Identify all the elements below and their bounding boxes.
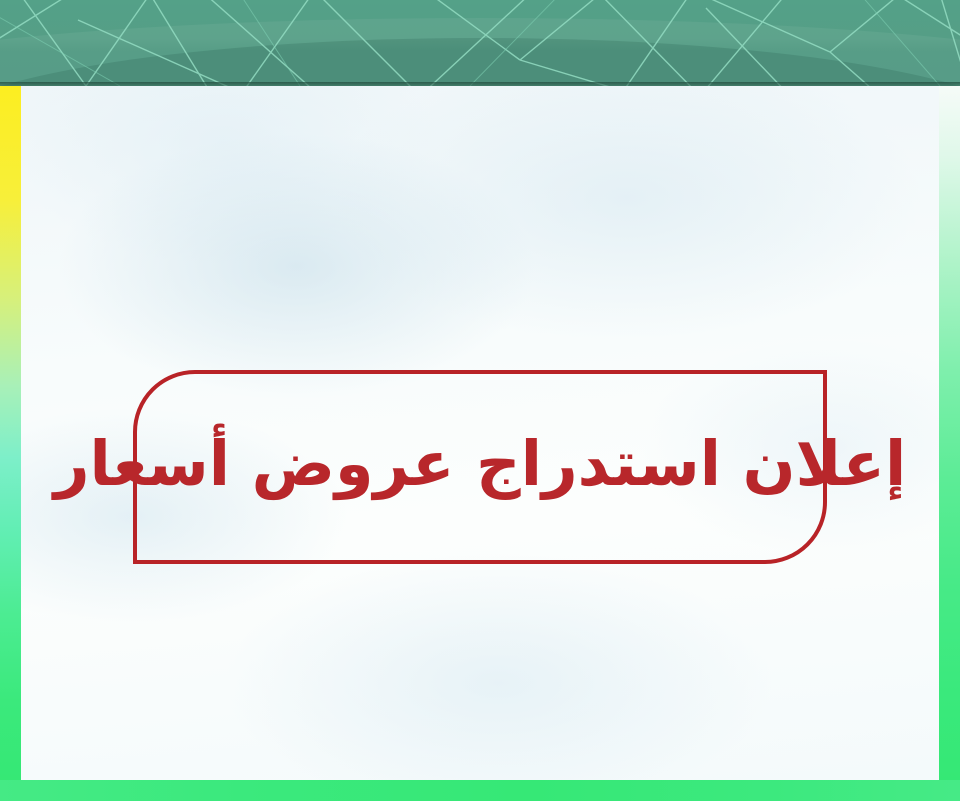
announcement-slide: إعلان استدراج عروض أسعار جمعية برامج الت… — [0, 0, 960, 801]
slide-body: إعلان استدراج عروض أسعار جمعية برامج الت… — [0, 86, 960, 801]
header-geometric-pattern-icon — [0, 0, 960, 86]
frame-right-gradient-strip — [939, 86, 960, 801]
frame-left-gradient-strip — [0, 86, 21, 801]
title-frame: إعلان استدراج عروض أسعار — [133, 370, 827, 564]
frame-bottom-green-strip — [0, 780, 960, 801]
page-title: إعلان استدراج عروض أسعار — [54, 428, 906, 505]
content-canvas: إعلان استدراج عروض أسعار جمعية برامج الت… — [21, 86, 939, 780]
header-banner — [0, 0, 960, 86]
